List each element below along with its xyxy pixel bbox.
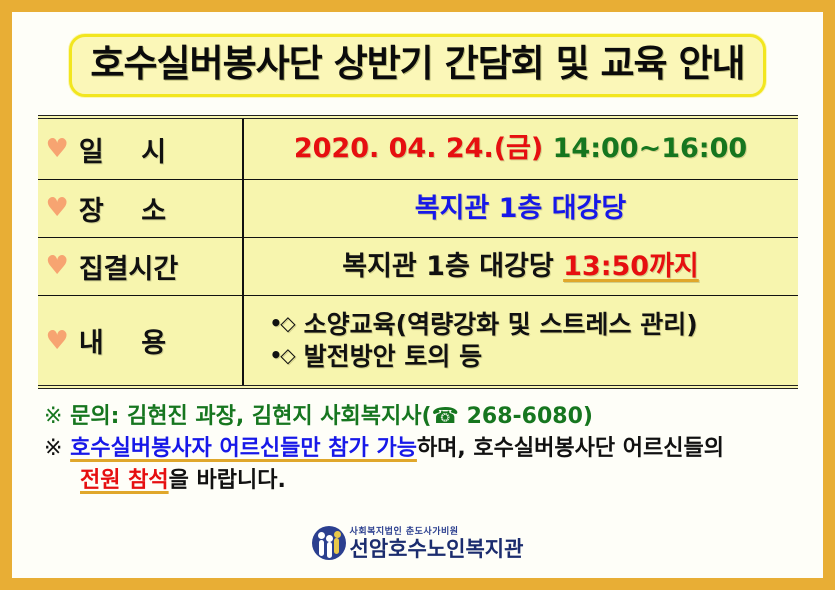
logo-name: 선암호수노인복지관 bbox=[350, 539, 524, 560]
table-row: ♥ 내 용 •◇ 소양교육(역량강화 및 스트레스 관리) •◇ 발전방안 토의… bbox=[38, 295, 798, 387]
note-attendance-highlight: 전원 참석 bbox=[80, 468, 169, 493]
row-label: 집결시간 bbox=[79, 247, 178, 286]
poster-frame: 호수실버봉사단 상반기 간담회 및 교육 안내 ♥ 일 시 2020. 04. … bbox=[0, 0, 835, 590]
note-attendance: 전원 참석을 바랍니다. bbox=[44, 465, 803, 497]
note-contact: ※ 문의: 김현진 과장, 김현지 사회복지사(☎ 268-6080) bbox=[44, 401, 803, 433]
time-value: 14:00~16:00 bbox=[543, 133, 747, 164]
heart-icon: ♥ bbox=[46, 253, 69, 279]
note-eligibility-rest: 하며, 호수실버봉사단 어르신들의 bbox=[417, 436, 724, 461]
heart-icon: ♥ bbox=[46, 195, 69, 221]
label-cell-place: ♥ 장 소 bbox=[38, 179, 243, 237]
date-value: 2020. 04. 24.(금) bbox=[294, 133, 543, 164]
table-row: ♥ 장 소 복지관 1층 대강당 bbox=[38, 179, 798, 237]
organization-logo: 사회복지법인 춘도사가비원 선암호수노인복지관 bbox=[312, 526, 524, 560]
row-label: 장 소 bbox=[79, 189, 166, 228]
notes-area: ※ 문의: 김현진 과장, 김현지 사회복지사(☎ 268-6080) ※ 호수… bbox=[44, 401, 803, 497]
title-area: 호수실버봉사단 상반기 간담회 및 교육 안내 bbox=[32, 34, 803, 97]
logo-text-block: 사회복지법인 춘도사가비원 선암호수노인복지관 bbox=[350, 528, 524, 560]
info-table: ♥ 일 시 2020. 04. 24.(금) 14:00~16:00 ♥ bbox=[38, 115, 798, 389]
page-title: 호수실버봉사단 상반기 간담회 및 교육 안내 bbox=[90, 43, 744, 84]
content-text: 소양교육(역량강화 및 스트레스 관리) bbox=[304, 309, 698, 341]
gathering-place: 복지관 1층 대강당 bbox=[342, 251, 563, 282]
logo-subtitle: 사회복지법인 춘도사가비원 bbox=[350, 528, 459, 537]
content-text: 발전방안 토의 등 bbox=[304, 341, 482, 373]
row-label: 내 용 bbox=[79, 321, 166, 360]
bullet-icon: •◇ bbox=[270, 311, 294, 337]
footer-area: 사회복지법인 춘도사가비원 선암호수노인복지관 bbox=[12, 526, 823, 560]
value-cell-datetime: 2020. 04. 24.(금) 14:00~16:00 bbox=[243, 117, 798, 179]
place-value: 복지관 1층 대강당 bbox=[415, 193, 626, 224]
list-item: •◇ 발전방안 토의 등 bbox=[270, 341, 784, 373]
note-eligibility: ※ 호수실버봉사자 어르신들만 참가 가능하며, 호수실버봉사단 어르신들의 bbox=[44, 433, 803, 465]
heart-icon: ♥ bbox=[46, 136, 69, 162]
value-cell-gathering-time: 복지관 1층 대강당 13:50까지 bbox=[243, 237, 798, 295]
list-item: •◇ 소양교육(역량강화 및 스트레스 관리) bbox=[270, 309, 784, 341]
title-pill: 호수실버봉사단 상반기 간담회 및 교육 안내 bbox=[69, 34, 765, 97]
logo-emblem-icon bbox=[312, 526, 346, 560]
reference-mark-icon: ※ bbox=[44, 404, 62, 429]
gathering-deadline: 13:50까지 bbox=[563, 251, 699, 282]
note-attendance-rest: 을 바랍니다. bbox=[169, 468, 286, 493]
table-row: ♥ 집결시간 복지관 1층 대강당 13:50까지 bbox=[38, 237, 798, 295]
poster-inner: 호수실버봉사단 상반기 간담회 및 교육 안내 ♥ 일 시 2020. 04. … bbox=[12, 12, 823, 578]
label-cell-content: ♥ 내 용 bbox=[38, 295, 243, 387]
note-contact-text: 문의: 김현진 과장, 김현지 사회복지사(☎ 268-6080) bbox=[70, 404, 593, 429]
value-cell-content: •◇ 소양교육(역량강화 및 스트레스 관리) •◇ 발전방안 토의 등 bbox=[243, 295, 798, 387]
table-row: ♥ 일 시 2020. 04. 24.(금) 14:00~16:00 bbox=[38, 117, 798, 179]
reference-mark-icon: ※ bbox=[44, 436, 62, 461]
label-cell-gathering-time: ♥ 집결시간 bbox=[38, 237, 243, 295]
value-cell-place: 복지관 1층 대강당 bbox=[243, 179, 798, 237]
bullet-icon: •◇ bbox=[270, 343, 294, 369]
note-eligibility-highlight: 호수실버봉사자 어르신들만 참가 가능 bbox=[70, 436, 417, 461]
label-cell-datetime: ♥ 일 시 bbox=[38, 117, 243, 179]
heart-icon: ♥ bbox=[46, 328, 69, 354]
row-label: 일 시 bbox=[79, 130, 166, 169]
